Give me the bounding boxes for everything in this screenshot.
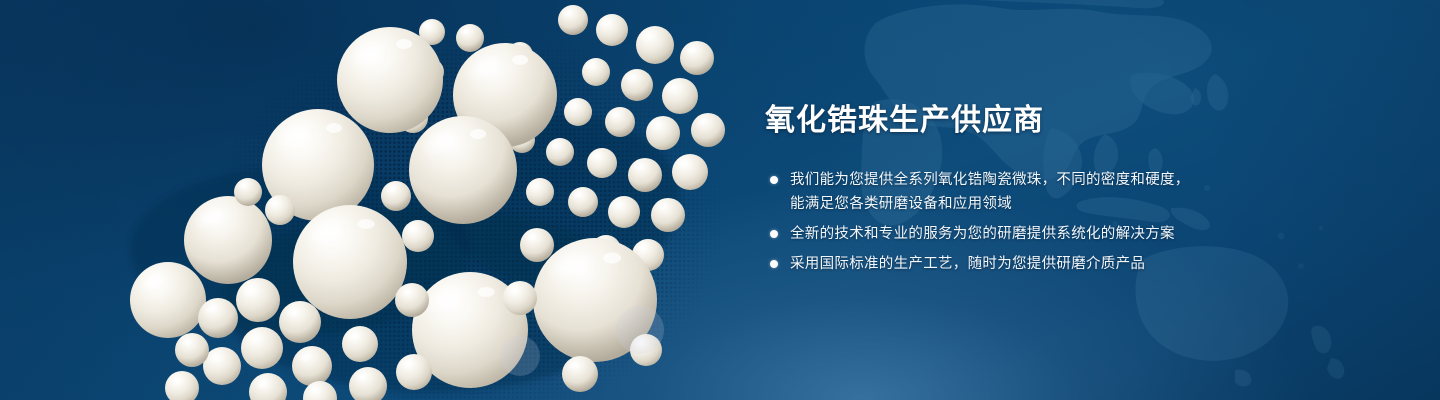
page-title: 氧化锆珠生产供应商 [765, 104, 1385, 138]
list-item: 全新的技术和专业的服务为您的研磨提供系统化的解决方案 [765, 222, 1385, 246]
bullet-dot-icon [770, 176, 778, 184]
bullet-line: 全新的技术和专业的服务为您的研磨提供系统化的解决方案 [790, 222, 1385, 246]
bullet-line: 能满足您各类研磨设备和应用领域 [790, 192, 1385, 216]
list-item: 我们能为您提供全系列氧化锆陶瓷微珠，不同的密度和硬度， 能满足您各类研磨设备和应… [765, 168, 1385, 216]
list-item: 采用国际标准的生产工艺，随时为您提供研磨介质产品 [765, 252, 1385, 276]
bullet-line: 采用国际标准的生产工艺，随时为您提供研磨介质产品 [790, 252, 1385, 276]
feature-list: 我们能为您提供全系列氧化锆陶瓷微珠，不同的密度和硬度， 能满足您各类研磨设备和应… [765, 168, 1385, 276]
bullet-dot-icon [770, 230, 778, 238]
banner-copy: 氧化锆珠生产供应商 我们能为您提供全系列氧化锆陶瓷微珠，不同的密度和硬度， 能满… [765, 104, 1385, 276]
hero-banner: 氧化锆珠生产供应商 我们能为您提供全系列氧化锆陶瓷微珠，不同的密度和硬度， 能满… [0, 0, 1440, 400]
bullet-dot-icon [770, 260, 778, 268]
bullet-line: 我们能为您提供全系列氧化锆陶瓷微珠，不同的密度和硬度， [790, 168, 1385, 192]
